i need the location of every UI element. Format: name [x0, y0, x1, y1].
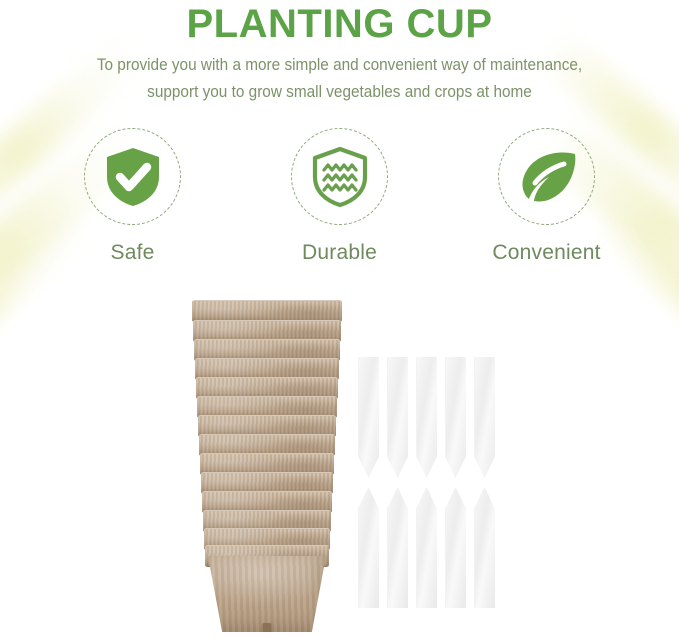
white-plant-label-markers [358, 357, 504, 603]
stacked-peat-pots [192, 300, 342, 632]
feature-convenient: Convenient [475, 128, 618, 265]
subtitle-line-2: support you to grow small vegetables and… [24, 79, 655, 106]
page-title: PLANTING CUP [0, 2, 679, 46]
feature-safe: Safe [61, 128, 204, 265]
header: PLANTING CUP To provide you with a more … [0, 0, 679, 106]
plant-label-row-bottom [358, 487, 504, 608]
plant-label [387, 487, 408, 608]
plant-label [416, 357, 437, 478]
pot-drainage-notch [263, 623, 272, 632]
page-subtitle: To provide you with a more simple and co… [24, 52, 655, 106]
plant-label [474, 357, 495, 478]
plant-label [358, 357, 379, 478]
plant-label [358, 487, 379, 608]
feature-durable-badge [291, 128, 388, 225]
plant-label-row-top [358, 357, 504, 478]
plant-label [474, 487, 495, 608]
feature-list: Safe Durable Convenient [0, 128, 679, 265]
bottom-pot-body [208, 556, 326, 632]
shield-waves-icon [311, 146, 369, 208]
plant-label [445, 487, 466, 608]
feature-safe-label: Safe [61, 241, 204, 265]
feature-convenient-label: Convenient [475, 241, 618, 265]
plant-label [387, 357, 408, 478]
feature-durable-label: Durable [268, 241, 411, 265]
feature-durable: Durable [268, 128, 411, 265]
shield-check-icon [104, 146, 162, 208]
feature-convenient-badge [498, 128, 595, 225]
leaf-icon [515, 148, 579, 206]
plant-label [416, 487, 437, 608]
subtitle-line-1: To provide you with a more simple and co… [24, 52, 655, 79]
feature-safe-badge [84, 128, 181, 225]
plant-label [445, 357, 466, 478]
